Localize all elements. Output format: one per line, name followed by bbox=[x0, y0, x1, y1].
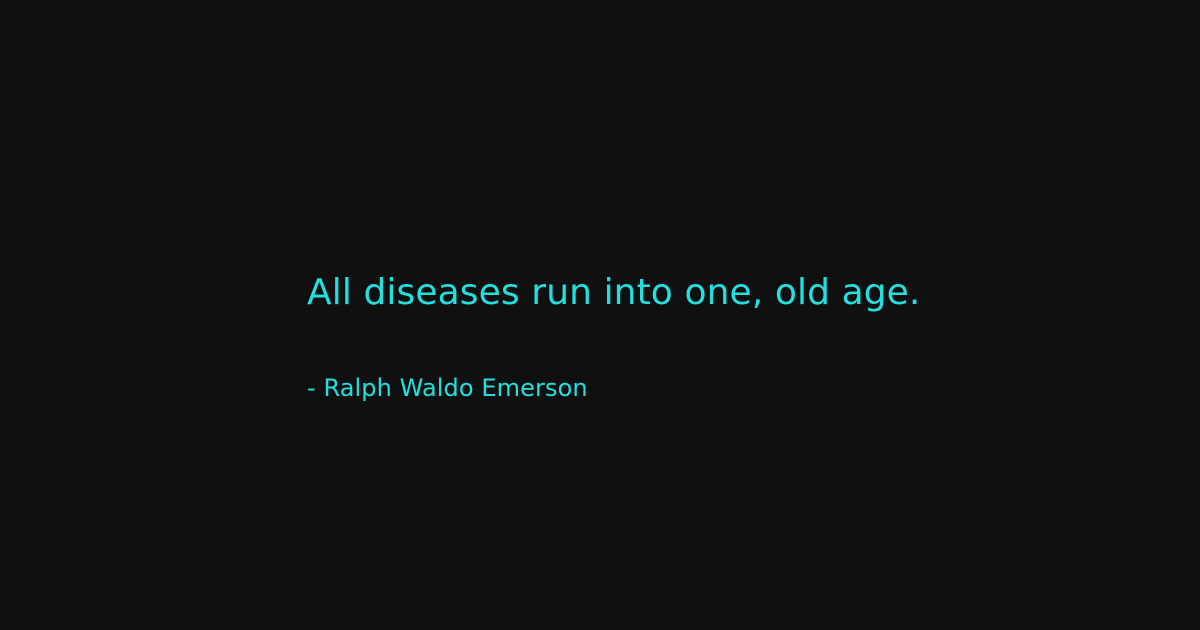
quote-text: All diseases run into one, old age. bbox=[307, 270, 1127, 316]
quote-attribution: - Ralph Waldo Emerson bbox=[307, 316, 1127, 403]
quote-card: All diseases run into one, old age. - Ra… bbox=[0, 0, 1200, 630]
quote-block: All diseases run into one, old age. - Ra… bbox=[307, 270, 1127, 403]
